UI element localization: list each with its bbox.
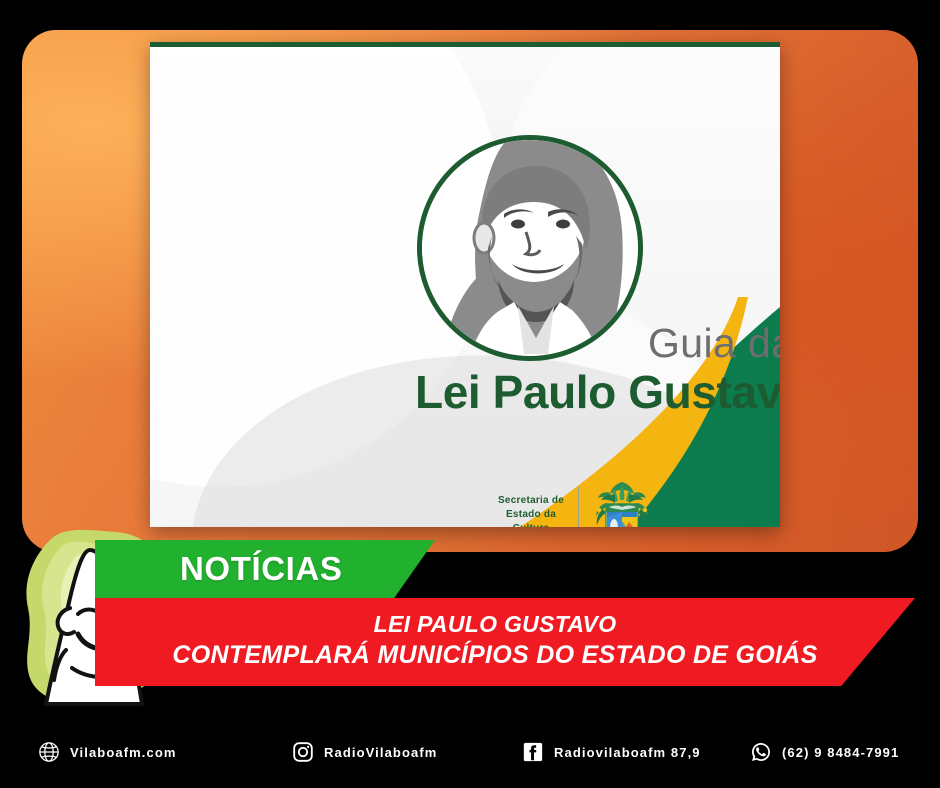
- headline-line-1: LEI PAULO GUSTAVO: [165, 610, 825, 639]
- whatsapp-icon: [750, 741, 772, 763]
- instagram-icon: [292, 741, 314, 763]
- headline-banner: LEI PAULO GUSTAVO CONTEMPLARÁ MUNICÍPIOS…: [95, 598, 915, 686]
- footer-label-whatsapp: (62) 9 8484-7991: [782, 745, 899, 760]
- secretaria-logo-lockup: Secretaria de Estado da Cultura: [498, 479, 651, 527]
- headline-text: LEI PAULO GUSTAVO CONTEMPLARÁ MUNICÍPIOS…: [95, 610, 915, 671]
- footer-contact-bar: Vilaboafm.com RadioVilaboafm Radiovilabo…: [0, 716, 940, 788]
- secretaria-text: Secretaria de Estado da Cultura: [498, 494, 564, 527]
- footer-item-facebook[interactable]: Radiovilaboafm 87,9: [522, 741, 701, 763]
- announcement-card: Guia da Lei Paulo Gustavo Secretaria de …: [150, 42, 780, 527]
- footer-item-instagram[interactable]: RadioVilaboafm: [292, 741, 437, 763]
- poster-canvas: Guia da Lei Paulo Gustavo Secretaria de …: [0, 0, 940, 788]
- category-label: NOTÍCIAS: [180, 549, 342, 589]
- footer-label-instagram: RadioVilaboafm: [324, 745, 437, 760]
- secretaria-line-2: Estado da: [498, 508, 564, 522]
- secretaria-line-1: Secretaria de: [498, 494, 564, 508]
- lockup-divider: [578, 487, 579, 527]
- portrait-circle: [417, 135, 643, 361]
- footer-item-whatsapp[interactable]: (62) 9 8484-7991: [750, 741, 899, 763]
- card-heading-small: Guia da: [648, 323, 780, 364]
- globe-icon: [38, 741, 60, 763]
- category-banner: NOTÍCIAS: [95, 540, 435, 598]
- headline-line-2: CONTEMPLARÁ MUNICÍPIOS DO ESTADO DE GOIÁ…: [165, 639, 825, 671]
- footer-label-facebook: Radiovilaboafm 87,9: [554, 745, 701, 760]
- secretaria-line-3: Cultura: [498, 522, 564, 527]
- footer-item-website[interactable]: Vilaboafm.com: [38, 741, 177, 763]
- brasao-goias-icon: [593, 479, 651, 527]
- footer-label-website: Vilaboafm.com: [70, 745, 177, 760]
- card-heading-large: Lei Paulo Gustavo: [415, 369, 780, 415]
- facebook-icon: [522, 741, 544, 763]
